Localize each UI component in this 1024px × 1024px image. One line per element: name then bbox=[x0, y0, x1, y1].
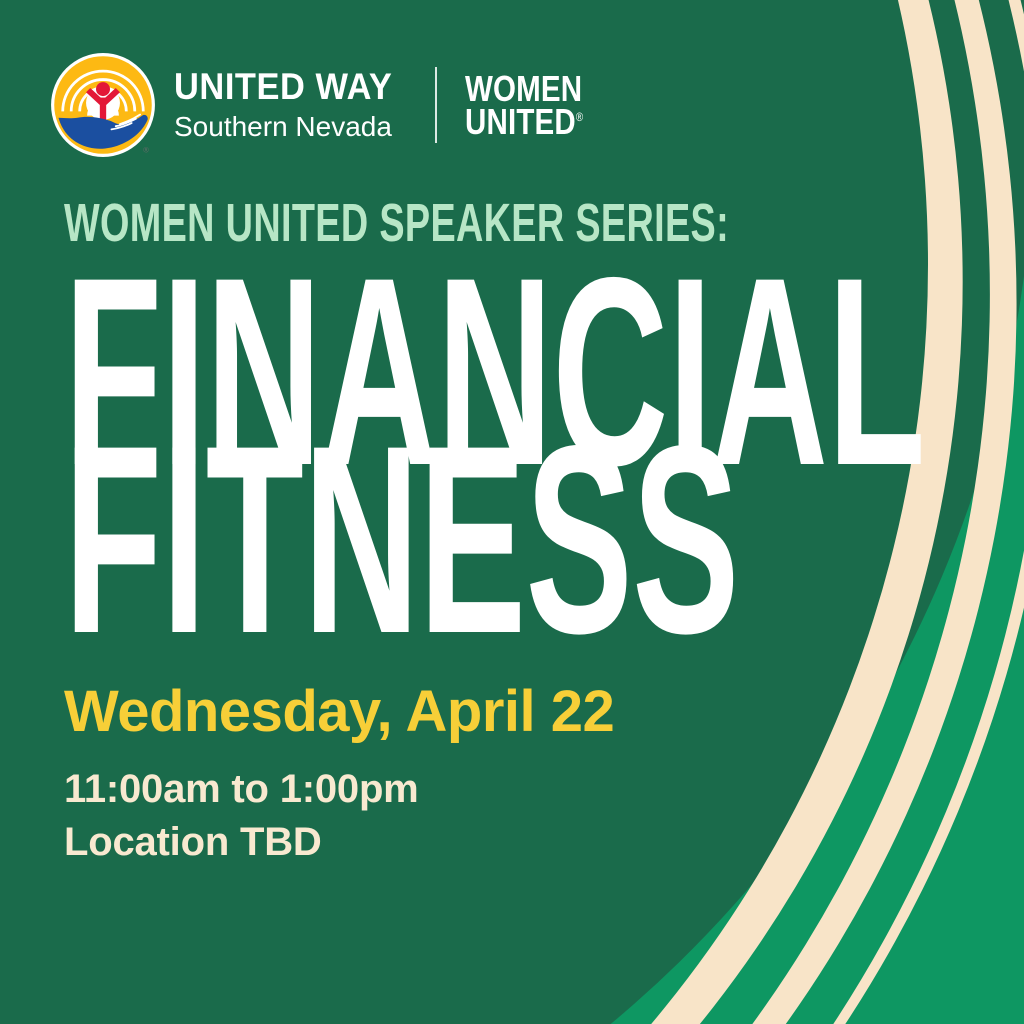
poster-content: WOMEN UNITED SPEAKER SERIES: FINANCIAL F… bbox=[64, 196, 924, 868]
women-united-line-1: WOMEN bbox=[465, 72, 583, 105]
event-poster: ® UNITED WAY Southern Nevada WOMEN UNITE… bbox=[0, 0, 1024, 1024]
logo-lockup: ® UNITED WAY Southern Nevada WOMEN UNITE… bbox=[50, 52, 609, 158]
event-detail-block: 11:00am to 1:00pm Location TBD bbox=[64, 763, 924, 869]
registered-trademark-icon: ® bbox=[576, 110, 583, 124]
event-location: Location TBD bbox=[64, 816, 924, 869]
svg-text:®: ® bbox=[143, 146, 149, 155]
united-way-name: UNITED WAY bbox=[174, 68, 392, 105]
lockup-divider bbox=[435, 67, 437, 143]
women-united-line-2-text: UNITED bbox=[465, 101, 576, 142]
united-way-region: Southern Nevada bbox=[174, 111, 409, 142]
women-united-wordmark: WOMEN UNITED® bbox=[465, 72, 609, 139]
women-united-line-2: UNITED® bbox=[465, 105, 583, 138]
united-way-logo-icon: ® bbox=[50, 52, 156, 158]
headline-line-2: FITNESS bbox=[64, 432, 580, 646]
event-date: Wednesday, April 22 bbox=[64, 683, 924, 741]
event-details: Wednesday, April 22 11:00am to 1:00pm Lo… bbox=[64, 683, 924, 869]
event-time: 11:00am to 1:00pm bbox=[64, 763, 924, 816]
page-title: FINANCIAL FITNESS bbox=[64, 264, 924, 647]
united-way-wordmark: UNITED WAY Southern Nevada bbox=[174, 68, 409, 142]
